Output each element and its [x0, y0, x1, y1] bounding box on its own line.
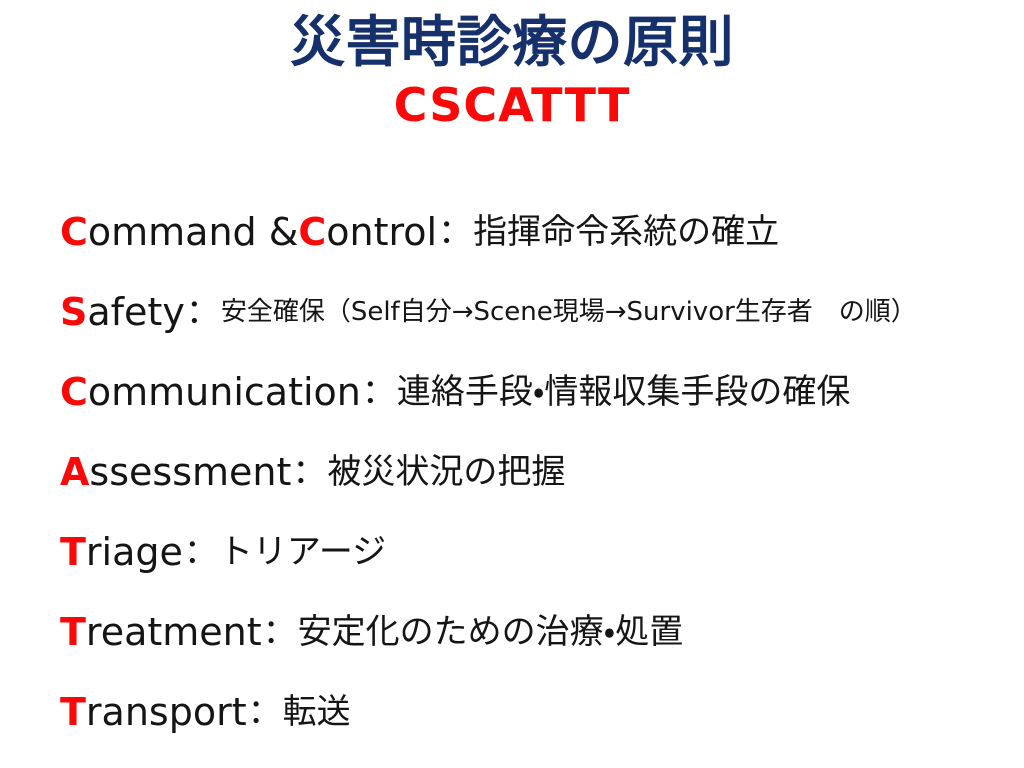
page-title: 災害時診療の原則 — [0, 12, 1024, 74]
item-initial-letter: A — [60, 453, 89, 491]
item-word: ransport — [86, 693, 247, 731]
item-description: 転送 — [283, 695, 351, 729]
item-separator: ： — [291, 455, 327, 489]
item-initial-letter: T — [60, 533, 86, 571]
item-description: 安定化のための治療・処置 — [298, 615, 684, 649]
item-description-tail: の順） — [839, 299, 917, 325]
list-item: C ommand & C ontrol ： 指揮命令系統の確立 — [60, 192, 1010, 272]
item-word: ommunication — [88, 373, 361, 411]
acronym-title: CSCATTT — [0, 80, 1024, 132]
list-item: T riage ： トリアージ — [60, 512, 1010, 592]
item-separator: ： — [437, 215, 473, 249]
item-initial-letter: T — [60, 693, 86, 731]
item-initial-letter: T — [60, 613, 86, 651]
title-block: 災害時診療の原則 CSCATTT — [0, 12, 1024, 131]
item-word: ommand & — [88, 213, 298, 251]
item-description: 安全確保（Self自分→Scene現場→Survivor生存者 — [221, 299, 813, 325]
item-description: 指揮命令系統の確立 — [473, 215, 779, 249]
item-separator: ： — [183, 535, 219, 569]
list-item: T reatment ： 安定化のための治療・処置 — [60, 592, 1010, 672]
item-separator: ： — [361, 375, 397, 409]
item-initial-letter: S — [60, 293, 87, 331]
item-description: 連絡手段・情報収集手段の確保 — [397, 375, 851, 409]
item-description: トリアージ — [219, 535, 386, 569]
list-item: A ssessment ： 被災状況の把握 — [60, 432, 1010, 512]
item-separator: ： — [247, 695, 283, 729]
item-separator: ： — [185, 295, 221, 329]
slide-canvas: 災害時診療の原則 CSCATTT C ommand & C ontrol ： 指… — [0, 0, 1024, 768]
item-separator: ： — [262, 615, 298, 649]
item-initial-letter: C — [60, 373, 88, 411]
principles-list: C ommand & C ontrol ： 指揮命令系統の確立 S afety … — [60, 192, 1010, 752]
list-item: S afety ： 安全確保（Self自分→Scene現場→Survivor生存… — [60, 272, 1010, 352]
item-word: ssessment — [89, 453, 291, 491]
item-word: riage — [86, 533, 183, 571]
item-initial-letter-2: C — [298, 213, 326, 251]
item-word: afety — [87, 293, 184, 331]
item-word: reatment — [86, 613, 262, 651]
list-item: T ransport ： 転送 — [60, 672, 1010, 752]
item-initial-letter: C — [60, 213, 88, 251]
item-word-2: ontrol — [326, 213, 437, 251]
item-description: 被災状況の把握 — [327, 455, 565, 489]
list-item: C ommunication ： 連絡手段・情報収集手段の確保 — [60, 352, 1010, 432]
